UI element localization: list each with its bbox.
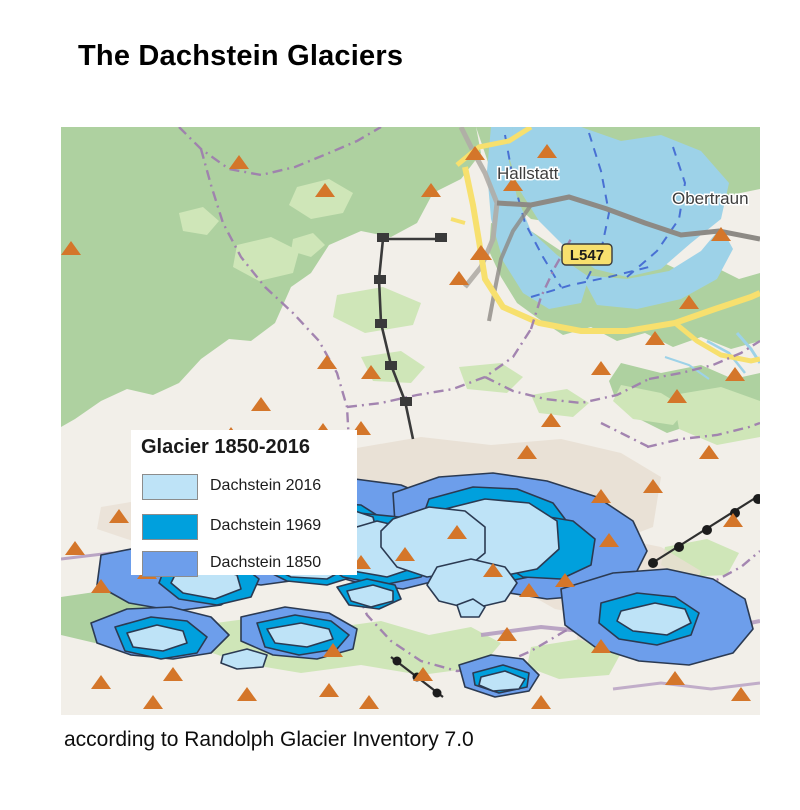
road-shield-l547: L547 [562,244,612,265]
map-frame[interactable]: Hallstatt Obertraun L547 Glacier 1850-20… [61,127,760,715]
legend-label-2016: Dachstein 2016 [210,477,321,495]
legend-title: Glacier 1850-2016 [141,436,310,459]
legend-swatch-1850 [142,551,198,577]
place-label-hallstatt: Hallstatt [497,164,559,183]
map-legend[interactable]: Glacier 1850-2016 Dachstein 2016 Dachste… [131,430,357,575]
legend-swatch-2016 [142,474,198,500]
legend-label-1969: Dachstein 1969 [210,517,321,535]
svg-text:L547: L547 [570,247,604,264]
map-canvas[interactable]: Hallstatt Obertraun L547 [61,127,760,715]
page-title: The Dachstein Glaciers [78,40,403,73]
legend-swatch-1969 [142,514,198,540]
source-caption: according to Randolph Glacier Inventory … [64,728,474,752]
place-label-obertraun: Obertraun [672,189,749,208]
legend-label-1850: Dachstein 1850 [210,554,321,572]
